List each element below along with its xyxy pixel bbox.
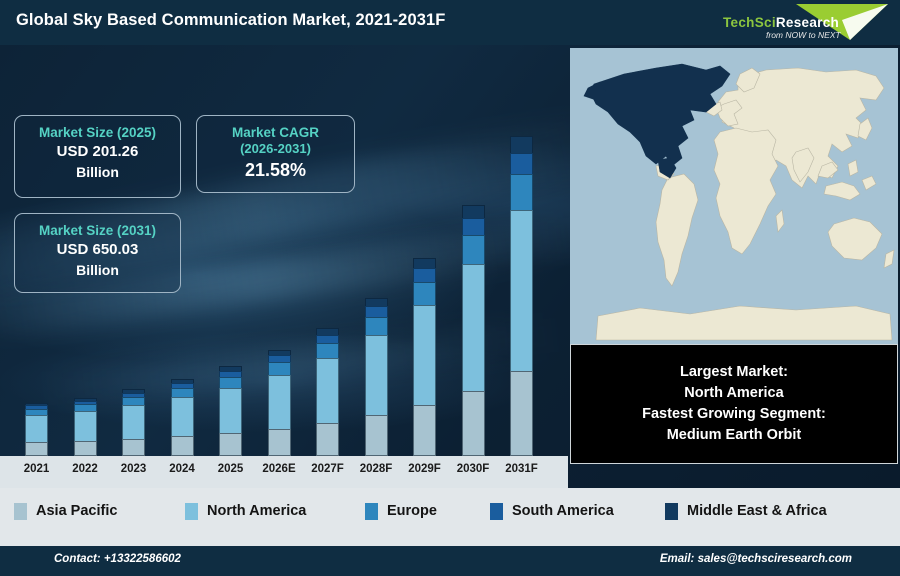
legend-label: North America (207, 503, 306, 519)
stacked-bar-chart (0, 45, 568, 488)
legend-label: Europe (387, 503, 437, 519)
bar-segment-asia-pacific (171, 436, 194, 456)
callout-line-1: Largest Market: (680, 362, 788, 383)
bar-segment-north-america (365, 335, 388, 415)
bar-segment-europe (365, 317, 388, 336)
bar-segment-middle-east-africa (413, 258, 436, 268)
bar-2021 (25, 403, 48, 456)
legend-label: Middle East & Africa (687, 503, 827, 519)
legend-label: South America (512, 503, 614, 519)
legend-swatch (365, 503, 378, 520)
bar-segment-north-america (413, 305, 436, 405)
legend-item-asia-pacific[interactable]: Asia Pacific (14, 503, 117, 520)
legend-item-south-america[interactable]: South America (490, 503, 614, 520)
legend-swatch (14, 503, 27, 520)
bar-2030F (462, 205, 485, 456)
x-axis-label: 2029F (398, 463, 452, 475)
bar-segment-europe (413, 282, 436, 305)
bar-segment-south-america (510, 153, 533, 174)
bar-2023 (122, 389, 145, 456)
legend-label: Asia Pacific (36, 503, 117, 519)
bar-segment-europe (74, 404, 97, 411)
x-axis-label: 2026E (252, 463, 306, 475)
x-axis-label: 2028F (349, 463, 403, 475)
callout-line-3: Fastest Growing Segment: (642, 404, 826, 425)
bar-segment-asia-pacific (268, 429, 291, 456)
callout-box: Largest Market: North America Fastest Gr… (570, 344, 898, 464)
header-bar: Global Sky Based Communication Market, 2… (0, 0, 900, 45)
legend-swatch (665, 503, 678, 520)
bar-segment-europe (510, 174, 533, 210)
bar-segment-middle-east-africa (365, 298, 388, 306)
x-axis-label: 2023 (107, 463, 161, 475)
bar-segment-south-america (365, 306, 388, 316)
bar-segment-asia-pacific (316, 423, 339, 456)
bar-segment-south-america (413, 268, 436, 281)
bar-segment-north-america (462, 264, 485, 390)
footer-bar: Contact: +13322586602 Email: sales@techs… (0, 546, 900, 576)
bar-2026E (268, 350, 291, 456)
bar-segment-europe (122, 397, 145, 405)
bar-segment-asia-pacific (122, 439, 145, 456)
bar-segment-middle-east-africa (316, 328, 339, 335)
bar-segment-asia-pacific (510, 371, 533, 456)
x-axis: 202120222023202420252026E2027F2028F2029F… (0, 456, 568, 488)
x-axis-label: 2024 (155, 463, 209, 475)
bar-segment-north-america (268, 375, 291, 429)
chart-legend: Asia PacificNorth AmericaEuropeSouth Ame… (0, 488, 900, 534)
logo-brand-primary: TechSci (723, 15, 776, 30)
bar-segment-asia-pacific (219, 433, 242, 456)
bar-segment-north-america (74, 411, 97, 441)
page-title: Global Sky Based Communication Market, 2… (16, 11, 445, 30)
world-map-svg (570, 48, 898, 344)
bar-segment-north-america (171, 397, 194, 436)
legend-item-middle-east-africa[interactable]: Middle East & Africa (665, 503, 827, 520)
legend-swatch (490, 503, 503, 520)
footer-email: Email: sales@techsciresearch.com (660, 553, 852, 565)
legend-swatch (185, 503, 198, 520)
world-map (570, 48, 898, 344)
logo-tagline: from NOW to NEXT (766, 30, 841, 40)
x-axis-label: 2030F (446, 463, 500, 475)
x-axis-label: 2025 (204, 463, 258, 475)
bar-segment-south-america (268, 355, 291, 362)
bar-2022 (74, 398, 97, 456)
footer-contact: Contact: +13322586602 (54, 553, 181, 565)
legend-item-europe[interactable]: Europe (365, 503, 437, 520)
bar-2027F (316, 328, 339, 456)
bar-segment-europe (268, 362, 291, 375)
bar-segment-asia-pacific (74, 441, 97, 456)
legend-item-north-america[interactable]: North America (185, 503, 306, 520)
bar-segment-north-america (25, 415, 48, 442)
bar-segment-north-america (122, 405, 145, 439)
logo-wordmark: TechSciResearch (723, 15, 839, 30)
bar-segment-north-america (316, 358, 339, 423)
bar-segment-europe (462, 235, 485, 264)
callout-line-4: Medium Earth Orbit (667, 425, 802, 446)
bar-segment-south-america (316, 335, 339, 344)
bar-2024 (171, 379, 194, 456)
bar-segment-south-america (462, 218, 485, 235)
x-axis-label: 2021 (10, 463, 64, 475)
callout-line-2: North America (684, 383, 783, 404)
bar-segment-north-america (219, 388, 242, 433)
bar-2025 (219, 366, 242, 456)
x-axis-label: 2031F (495, 463, 549, 475)
techsci-logo: TechSciResearch from NOW to NEXT (710, 2, 892, 44)
bar-2031F (510, 136, 533, 456)
bar-2029F (413, 258, 436, 456)
infographic-root: Global Sky Based Communication Market, 2… (0, 0, 900, 576)
bar-segment-asia-pacific (25, 442, 48, 456)
logo-brand-secondary: Research (776, 15, 839, 30)
bar-segment-asia-pacific (413, 405, 436, 456)
bar-segment-asia-pacific (462, 391, 485, 456)
bar-segment-europe (316, 343, 339, 358)
map-highlight-north-america (584, 64, 730, 178)
x-axis-label: 2027F (301, 463, 355, 475)
x-axis-label: 2022 (58, 463, 112, 475)
bar-segment-asia-pacific (365, 415, 388, 456)
bar-segment-middle-east-africa (462, 205, 485, 218)
bar-segment-europe (171, 388, 194, 397)
bar-segment-middle-east-africa (510, 136, 533, 153)
bar-segment-europe (219, 377, 242, 387)
bar-segment-north-america (510, 210, 533, 371)
bar-2028F (365, 298, 388, 456)
